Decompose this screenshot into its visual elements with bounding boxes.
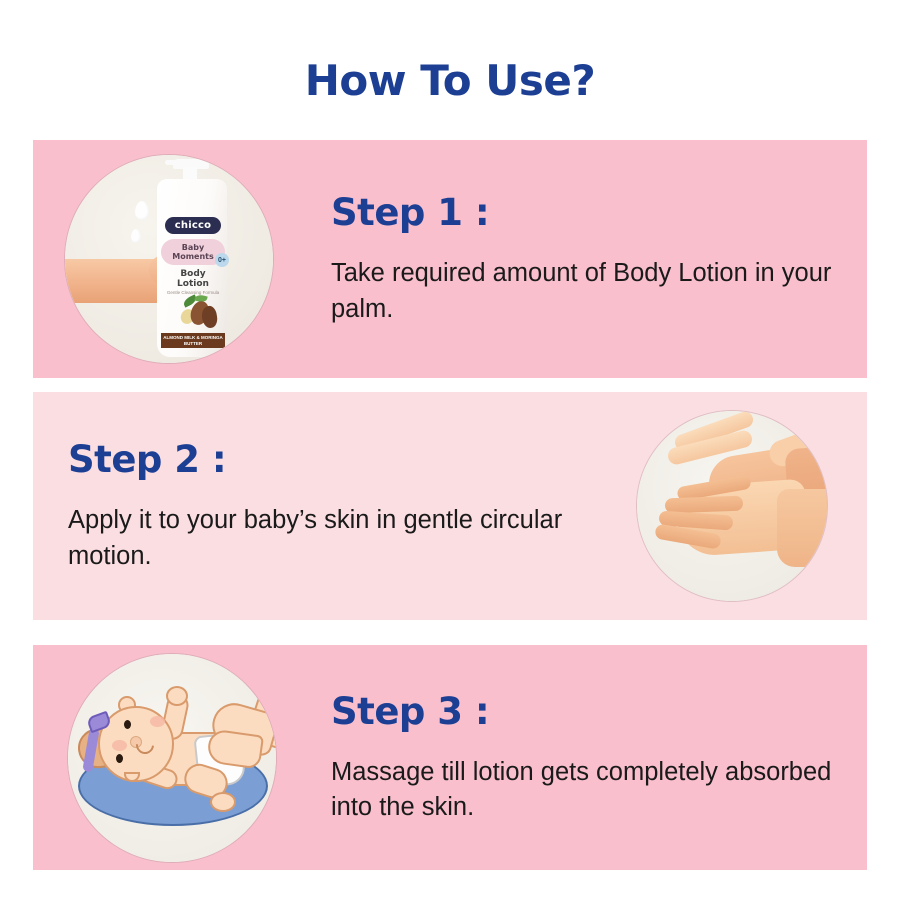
product-line-2: Moments: [172, 252, 214, 261]
baby-foot: [210, 792, 236, 812]
baby-fist: [166, 686, 188, 706]
almond-nuts-illustration: [177, 297, 221, 331]
product-brand-label: chicco: [165, 217, 221, 234]
product-variant-label: ALMOND MILK & MORINGA BUTTER: [161, 333, 225, 348]
step-2-image: [637, 411, 827, 601]
step-card-1: chicco Baby Moments 0+ Body Lotion Gentl…: [33, 140, 867, 378]
step-1-heading: Step 1 :: [331, 191, 867, 234]
step-2-heading: Step 2 :: [68, 438, 627, 481]
baby-cheek: [150, 716, 165, 727]
step-3-heading: Step 3 :: [331, 690, 867, 733]
baby-eye: [124, 720, 131, 729]
step-3-body: Massage till lotion gets completely abso…: [331, 755, 867, 825]
product-line-1: Baby: [182, 243, 204, 252]
step-2-text: Step 2 : Apply it to your baby’s skin in…: [33, 438, 637, 573]
step-1-image: chicco Baby Moments 0+ Body Lotion Gentl…: [65, 155, 273, 363]
product-name-line-2: Lotion: [161, 280, 225, 290]
baby-eye: [116, 754, 123, 763]
lower-hand-wrist: [777, 489, 827, 567]
step-card-2: Step 2 : Apply it to your baby’s skin in…: [33, 392, 867, 620]
age-badge: 0+: [215, 253, 229, 267]
baby-cheek: [112, 740, 127, 751]
lower-hand-fingers: [655, 495, 765, 561]
step-card-3: Step 3 : Massage till lotion gets comple…: [33, 645, 867, 870]
nut-shape: [200, 305, 219, 329]
step-3-text: Step 3 : Massage till lotion gets comple…: [276, 690, 867, 825]
step-1-text: Step 1 : Take required amount of Body Lo…: [273, 191, 867, 326]
step-1-body: Take required amount of Body Lotion in y…: [331, 256, 867, 326]
step-2-body: Apply it to your baby’s skin in gentle c…: [68, 503, 627, 573]
lotion-drop-icon: [135, 201, 149, 220]
lotion-drop-icon: [131, 229, 141, 243]
page-title: How To Use?: [0, 56, 900, 105]
step-3-image: [68, 654, 276, 862]
product-name-label: Body Lotion: [161, 270, 225, 290]
